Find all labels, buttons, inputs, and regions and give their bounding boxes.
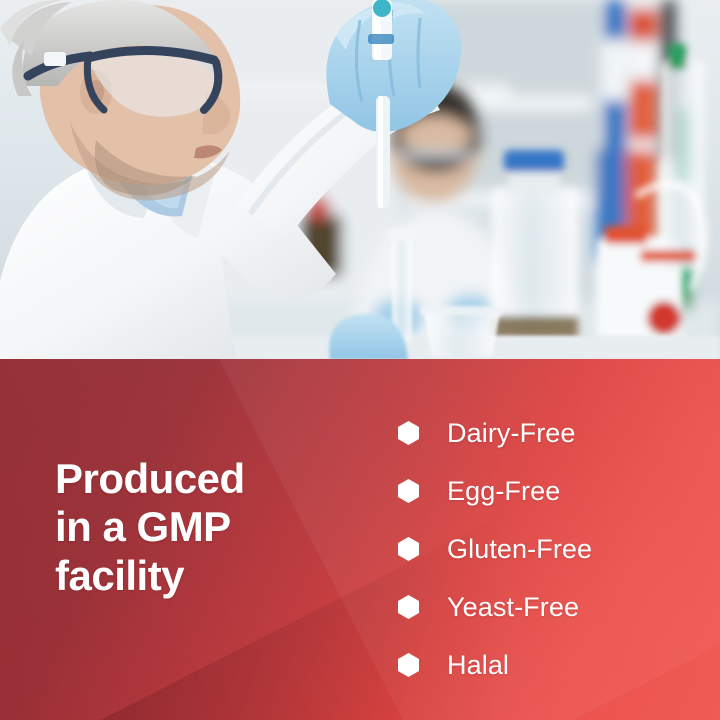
lab-photo-illustration: [0, 0, 720, 360]
hexagon-bullet-icon: [398, 537, 419, 561]
list-item: Yeast-Free: [398, 578, 698, 636]
claim-label: Halal: [447, 652, 509, 679]
claim-label: Egg-Free: [447, 478, 560, 505]
lab-photo: [0, 0, 720, 360]
claim-label: Yeast-Free: [447, 594, 579, 621]
hexagon-bullet-icon: [398, 479, 419, 503]
claims-panel: Produced in a GMP facility Dairy-Free Eg…: [0, 359, 720, 720]
claims-list: Dairy-Free Egg-Free Gluten-Free Yeast-Fr…: [398, 404, 698, 694]
list-item: Halal: [398, 636, 698, 694]
hexagon-bullet-icon: [398, 595, 419, 619]
page-title: Produced in a GMP facility: [55, 455, 355, 600]
claim-label: Gluten-Free: [447, 536, 592, 563]
list-item: Egg-Free: [398, 462, 698, 520]
claim-label: Dairy-Free: [447, 420, 576, 447]
promo-banner: Produced in a GMP facility Dairy-Free Eg…: [0, 0, 720, 720]
list-item: Gluten-Free: [398, 520, 698, 578]
list-item: Dairy-Free: [398, 404, 698, 462]
hexagon-bullet-icon: [398, 653, 419, 677]
hexagon-bullet-icon: [398, 421, 419, 445]
